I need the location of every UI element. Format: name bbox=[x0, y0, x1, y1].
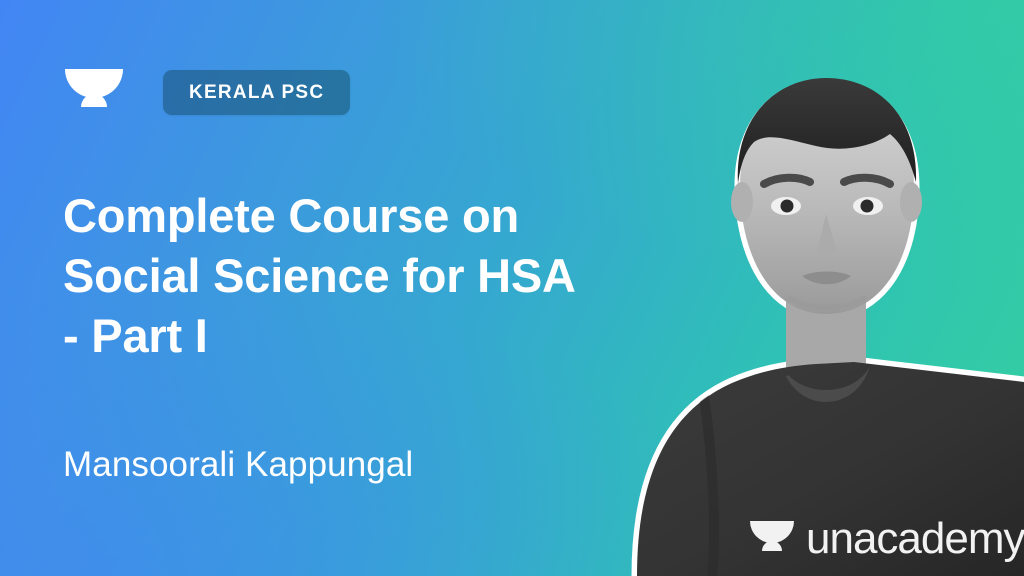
category-badge-label: KERALA PSC bbox=[189, 83, 324, 102]
unacademy-bowl-logo-icon bbox=[64, 62, 124, 124]
instructor-name: Mansoorali Kappungal bbox=[63, 444, 413, 486]
course-thumbnail-card: KERALA PSC Complete Course on Social Sci… bbox=[0, 0, 1024, 576]
svg-text:unacademy: unacademy bbox=[806, 514, 1024, 563]
course-title: Complete Course on Social Science for HS… bbox=[63, 186, 663, 366]
category-badge[interactable]: KERALA PSC bbox=[163, 70, 350, 115]
